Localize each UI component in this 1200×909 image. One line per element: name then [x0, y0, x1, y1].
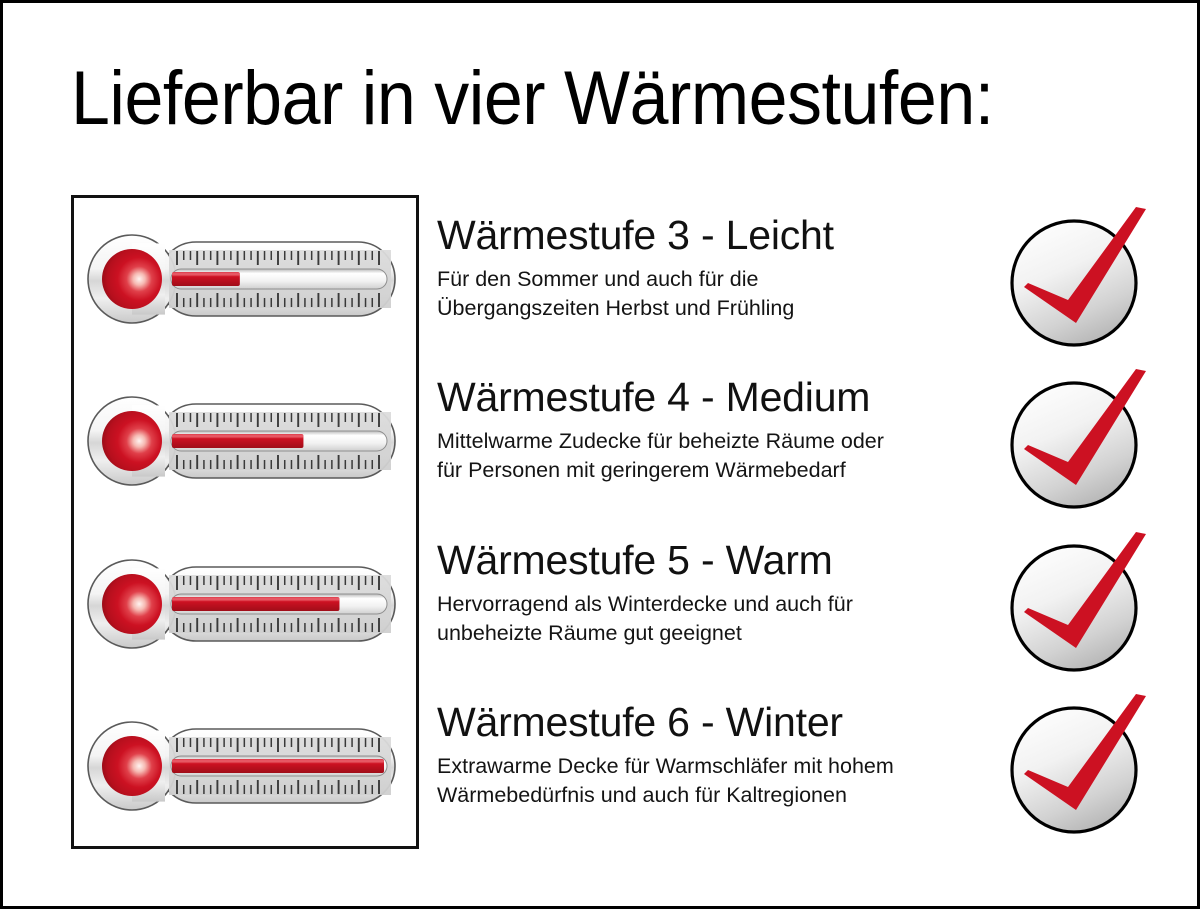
thermometer-icon: [85, 550, 405, 658]
level-row: Wärmestufe 4 - Medium Mittelwarme Zudeck…: [3, 361, 1200, 521]
level-description-line-1: Hervorragend als Winterdecke und auch fü…: [437, 590, 977, 618]
check-mark-icon: [1006, 203, 1156, 353]
level-description-line-2: Wärmebedürfnis und auch für Kaltregionen: [437, 781, 977, 809]
level-text-block: Wärmestufe 4 - Medium Mittelwarme Zudeck…: [437, 375, 977, 484]
level-description: Extrawarme Decke für Warmschläfer mit ho…: [437, 752, 977, 809]
level-text-block: Wärmestufe 3 - Leicht Für den Sommer und…: [437, 213, 977, 322]
level-description: Für den Sommer und auch für die Übergang…: [437, 265, 977, 322]
level-heading: Wärmestufe 4 - Medium: [437, 375, 977, 419]
check-mark-icon: [1006, 365, 1156, 515]
level-description-line-1: Mittelwarme Zudecke für beheizte Räume o…: [437, 427, 977, 455]
level-description-line-1: Für den Sommer und auch für die: [437, 265, 977, 293]
level-text-block: Wärmestufe 6 - Winter Extrawarme Decke f…: [437, 700, 977, 809]
level-row: Wärmestufe 5 - Warm Hervorragend als Win…: [3, 524, 1200, 684]
level-description-line-2: Übergangszeiten Herbst und Frühling: [437, 294, 977, 322]
level-text-block: Wärmestufe 5 - Warm Hervorragend als Win…: [437, 538, 977, 647]
thermometer-icon: [85, 225, 405, 333]
thermometer-icon: [85, 387, 405, 495]
level-row: Wärmestufe 6 - Winter Extrawarme Decke f…: [3, 686, 1200, 846]
level-description-line-2: für Personen mit geringerem Wärmebedarf: [437, 456, 977, 484]
level-description-line-1: Extrawarme Decke für Warmschläfer mit ho…: [437, 752, 977, 780]
level-description: Mittelwarme Zudecke für beheizte Räume o…: [437, 427, 977, 484]
check-mark-icon: [1006, 528, 1156, 678]
level-heading: Wärmestufe 5 - Warm: [437, 538, 977, 582]
level-description: Hervorragend als Winterdecke und auch fü…: [437, 590, 977, 647]
thermometer-icon: [85, 712, 405, 820]
level-heading: Wärmestufe 3 - Leicht: [437, 213, 977, 257]
level-row: Wärmestufe 3 - Leicht Für den Sommer und…: [3, 199, 1200, 359]
check-mark-icon: [1006, 690, 1156, 840]
page-title: Lieferbar in vier Wärmestufen:: [71, 55, 994, 142]
level-heading: Wärmestufe 6 - Winter: [437, 700, 977, 744]
infographic-page: Lieferbar in vier Wärmestufen:: [0, 0, 1200, 909]
level-description-line-2: unbeheizte Räume gut geeignet: [437, 619, 977, 647]
